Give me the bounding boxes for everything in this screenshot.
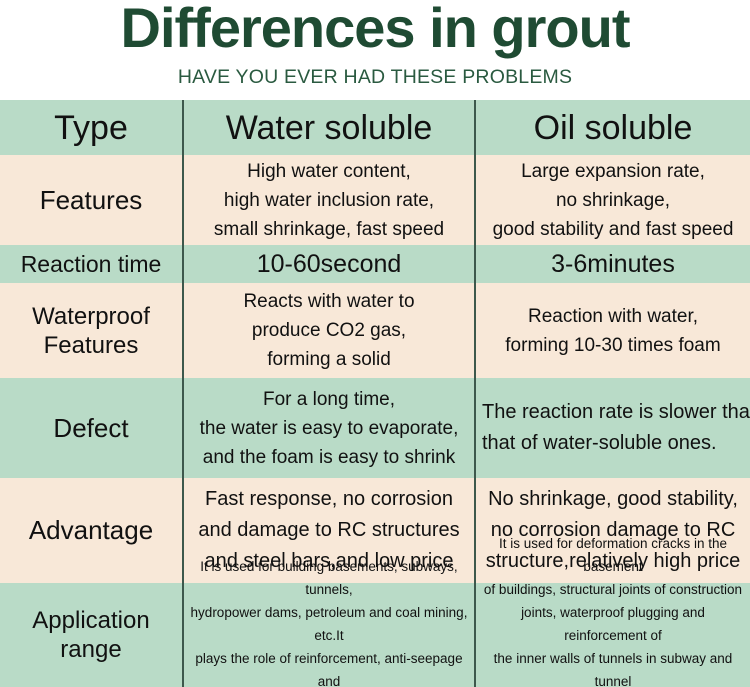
row-label-features: Features	[0, 155, 182, 245]
text-line: It is used for building basements, subwa…	[188, 555, 470, 601]
page-header: Differences in grout HAVE YOU EVER HAD T…	[0, 0, 750, 100]
text-line: no shrinkage,	[480, 186, 746, 215]
row-label-waterproof-features: Waterproof Features	[0, 283, 182, 378]
text-line: forming a solid	[188, 345, 470, 374]
text-line: Reacts with water to	[188, 287, 470, 316]
text-line: the inner walls of tunnels in subway and…	[480, 647, 746, 687]
text-line: High water content,	[188, 157, 470, 186]
text-line: of buildings, structural joints of const…	[480, 578, 746, 601]
text-line: small shrinkage, fast speed	[188, 215, 470, 244]
page-title: Differences in grout	[0, 0, 750, 59]
text-line: Waterproof	[4, 302, 178, 331]
text-line: Application	[4, 606, 178, 635]
cell-waterproof-oil: Reaction with water, forming 10-30 times…	[474, 283, 750, 378]
text-line: the water is easy to evaporate,	[188, 414, 470, 443]
text-line: joints, waterproof plugging and reinforc…	[480, 601, 746, 647]
text-line: It is used for deformation cracks in the…	[480, 532, 746, 578]
text-line: No shrinkage, good stability,	[480, 484, 746, 515]
cell-application-range-water: It is used for building basements, subwa…	[182, 583, 474, 687]
text-line: that of water-soluble ones.	[482, 428, 746, 459]
page-subtitle: HAVE YOU EVER HAD THESE PROBLEMS	[0, 65, 750, 89]
text-line: and damage to RC structures	[188, 515, 470, 546]
row-label-defect: Defect	[0, 378, 182, 478]
cell-reaction-time-water: 10-60second	[182, 245, 474, 283]
row-label-reaction-time: Reaction time	[0, 245, 182, 283]
table-row-waterproof-features: Waterproof Features Reacts with water to…	[0, 283, 750, 378]
text-line: forming 10-30 times foam	[480, 331, 746, 360]
infographic-page: Differences in grout HAVE YOU EVER HAD T…	[0, 0, 750, 687]
text-line: Features	[4, 331, 178, 360]
text-line: plays the role of reinforcement, anti-se…	[188, 647, 470, 687]
text-line: range	[4, 635, 178, 664]
text-line: hydropower dams, petroleum and coal mini…	[188, 601, 470, 647]
header-cell-oil-soluble: Oil soluble	[474, 100, 750, 155]
row-label-application-range: Application range	[0, 583, 182, 687]
table-row-defect: Defect For a long time, the water is eas…	[0, 378, 750, 478]
table-row-features: Features High water content, high water …	[0, 155, 750, 245]
text-line: and the foam is easy to shrink	[188, 443, 470, 472]
table-header-row: Type Water soluble Oil soluble	[0, 100, 750, 155]
table-row-reaction-time: Reaction time 10-60second 3-6minutes	[0, 245, 750, 283]
cell-features-water: High water content, high water inclusion…	[182, 155, 474, 245]
header-cell-water-soluble: Water soluble	[182, 100, 474, 155]
comparison-table: Type Water soluble Oil soluble Features …	[0, 100, 750, 687]
cell-waterproof-water: Reacts with water to produce CO2 gas, fo…	[182, 283, 474, 378]
table-row-application-range: Application range It is used for buildin…	[0, 583, 750, 687]
cell-defect-water: For a long time, the water is easy to ev…	[182, 378, 474, 478]
text-line: Fast response, no corrosion	[188, 484, 470, 515]
text-line: good stability and fast speed	[480, 215, 746, 244]
text-line: produce CO2 gas,	[188, 316, 470, 345]
header-cell-type: Type	[0, 100, 182, 155]
cell-defect-oil: The reaction rate is slower than that of…	[474, 378, 750, 478]
text-line: Large expansion rate,	[480, 157, 746, 186]
text-line: For a long time,	[188, 385, 470, 414]
row-label-advantage: Advantage	[0, 478, 182, 583]
cell-features-oil: Large expansion rate, no shrinkage, good…	[474, 155, 750, 245]
text-line: Reaction with water,	[480, 302, 746, 331]
text-line: high water inclusion rate,	[188, 186, 470, 215]
cell-application-range-oil: It is used for deformation cracks in the…	[474, 583, 750, 687]
text-line: The reaction rate is slower than	[482, 397, 746, 428]
cell-reaction-time-oil: 3-6minutes	[474, 245, 750, 283]
